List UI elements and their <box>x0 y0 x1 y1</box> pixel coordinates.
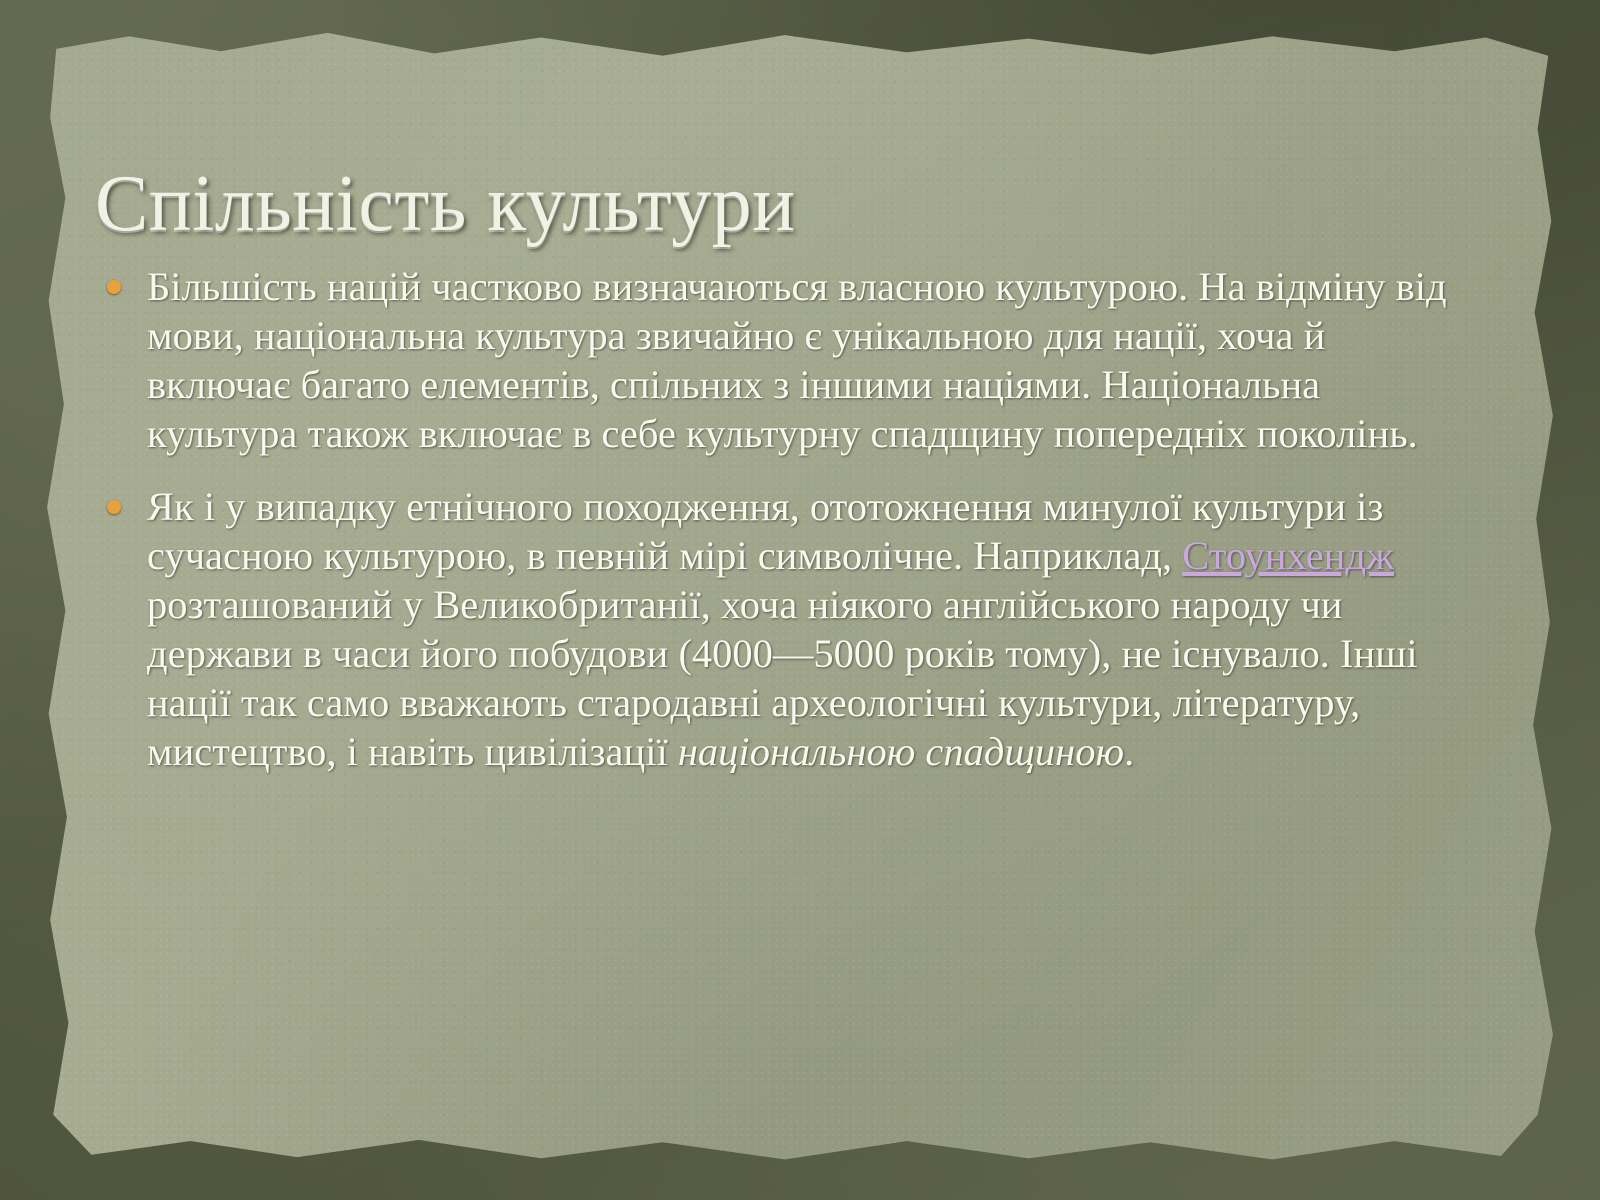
stonehenge-hyperlink[interactable]: Стоунхендж <box>1182 533 1394 578</box>
slide-body: Більшість націй частково визначаються вл… <box>95 262 1475 800</box>
bullet-dot-icon <box>107 500 121 514</box>
list-item: Як і у випадку етнічного походження, ото… <box>95 482 1475 776</box>
bullet-2-text: Як і у випадку етнічного походження, ото… <box>147 484 1418 774</box>
bullet-dot-icon <box>107 280 121 294</box>
bullet-2-text-end: . <box>1124 729 1134 774</box>
page-title: Спільність культури <box>95 162 1435 246</box>
list-item: Більшість націй частково визначаються вл… <box>95 262 1475 458</box>
bullet-2-italic-phrase: національною спадщиною <box>678 729 1124 774</box>
bullet-list: Більшість націй частково визначаються вл… <box>95 262 1475 776</box>
slide: Спільність культури Більшість націй част… <box>0 0 1600 1200</box>
bullet-1-text: Більшість націй частково визначаються вл… <box>147 264 1447 456</box>
